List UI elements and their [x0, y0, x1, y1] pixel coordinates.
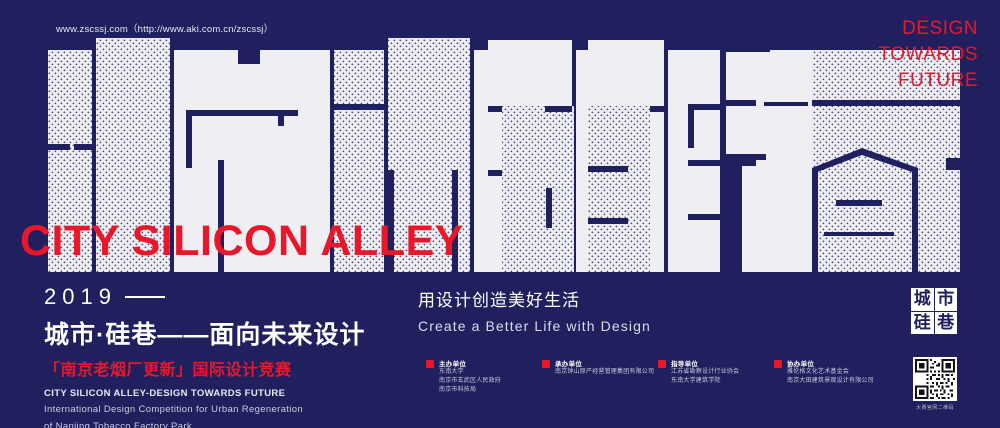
year-dash: [125, 296, 165, 298]
bullet-square-icon: [542, 360, 550, 368]
year-row: 2019: [44, 284, 365, 310]
bullet-square-icon: [426, 360, 434, 368]
bullet-square-icon: [658, 360, 666, 368]
organiser-line: 南京钟山原产经营管理集团有限公司: [555, 368, 654, 377]
organiser-line: 东南大学建筑学院: [671, 377, 739, 386]
organiser-item: 协办单位 雅伦格文化艺术基金会 南京大田建筑景观设计有限公司: [774, 358, 890, 395]
organiser-line: 东南大学: [439, 368, 501, 377]
tagline-line-3: FUTURE: [878, 68, 978, 94]
organiser-item: 指导单位 江苏省勘察设计行业协会 东南大学建筑学院: [658, 358, 774, 395]
organiser-line: 江苏省勘察设计行业协会: [671, 368, 739, 377]
slogan-english: Create a Better Life with Design: [418, 318, 651, 334]
tagline-line-1: DESIGN: [878, 16, 978, 42]
tagline-design-towards-future: DESIGN TOWARDS FUTURE: [878, 16, 978, 94]
organiser-title: 指导单位: [671, 358, 739, 368]
organiser-item: 主办单位 东南大学 南京市玄武区人民政府 南京市科技局: [426, 358, 542, 395]
poster-canvas: www.zscssj.com（http://www.aki.com.cn/zsc…: [0, 0, 1000, 428]
organiser-line: 雅伦格文化艺术基金会: [787, 368, 874, 377]
organiser-item: 承办单位 南京钟山原产经营管理集团有限公司: [542, 358, 658, 395]
bottom-info-band: 2019 城市·硅巷——面向未来设计 「南京老烟厂更新」国际设计竞赛 CITY …: [0, 276, 1000, 428]
organiser-line: 南京市玄武区人民政府: [439, 377, 501, 386]
chinese-subtitle: 「南京老烟厂更新」国际设计竞赛: [44, 356, 365, 380]
english-title: CITY SILICON ALLEY-DESIGN TOWARDS FUTURE: [44, 388, 365, 399]
english-subtitle-line-1: International Design Competition for Urb…: [44, 403, 365, 416]
headline-city-silicon-alley: CITY SILICON ALLEY: [20, 219, 464, 263]
organiser-title: 承办单位: [555, 358, 654, 368]
tagline-line-2: TOWARDS: [878, 42, 978, 68]
slogan-block: 用设计创造美好生活 Create a Better Life with Desi…: [418, 286, 651, 334]
year-label: 2019: [44, 284, 117, 310]
organiser-title: 协办单位: [787, 358, 874, 368]
organiser-list: 主办单位 东南大学 南京市玄武区人民政府 南京市科技局 承办单位 南京钟山原产经…: [426, 358, 890, 395]
english-subtitle-line-2: of Nanjing Tobacco Factory Park: [44, 420, 365, 428]
chinese-title: 城市·硅巷——面向未来设计: [44, 315, 365, 351]
title-block: 2019 城市·硅巷——面向未来设计 「南京老烟厂更新」国际设计竞赛 CITY …: [44, 284, 365, 428]
slogan-chinese: 用设计创造美好生活: [418, 286, 651, 311]
organiser-title: 主办单位: [439, 358, 501, 368]
organiser-line: 南京大田建筑景观设计有限公司: [787, 377, 874, 386]
organiser-line: 南京市科技局: [439, 386, 501, 395]
bullet-square-icon: [774, 360, 782, 368]
